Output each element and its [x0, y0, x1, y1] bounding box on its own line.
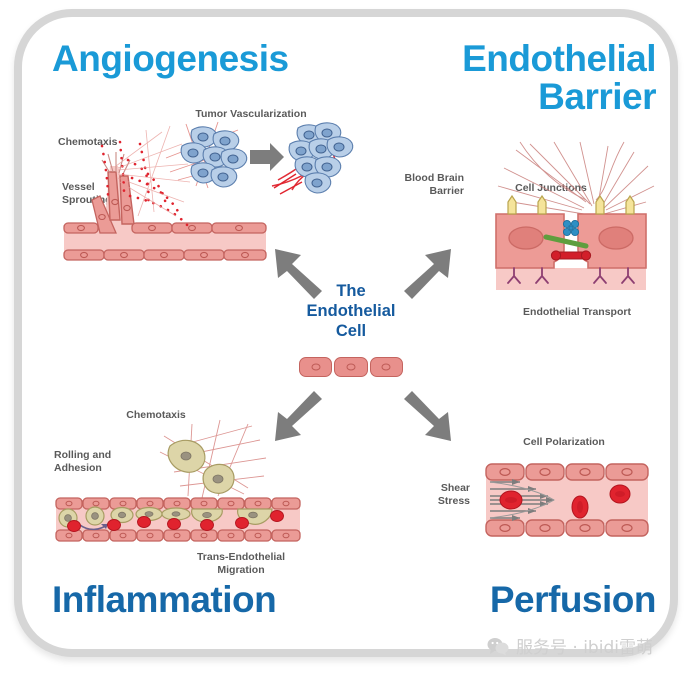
arrow-to-perfusion: [398, 388, 454, 444]
watermark-text: 服务号 · ibidi雷萌: [516, 633, 653, 658]
shear-stress-label: Shear Stress: [424, 482, 470, 508]
endothelial-barrier-illustration: [468, 140, 668, 300]
endothelial-cell-1: [299, 357, 332, 377]
endothelial-transport-label: Endothelial Transport: [492, 306, 662, 319]
quadrant-title-endothelial-barrier: Endothelial Barrier: [462, 40, 656, 115]
center-endothelial-cell-strip: [299, 357, 403, 377]
endothelial-cell-2: [334, 357, 367, 377]
arrow-to-endothelial-barrier: [398, 246, 454, 302]
endothelial-cell-3: [370, 357, 403, 377]
inflammation-illustration: [52, 418, 302, 548]
trans-endothelial-migration-label: Trans-Endothelial Migration: [178, 551, 304, 577]
quadrant-title-inflammation: Inflammation: [52, 581, 276, 619]
wechat-icon: [487, 637, 509, 655]
cell-polarization-label: Cell Polarization: [507, 436, 621, 449]
quadrant-title-perfusion: Perfusion: [490, 581, 656, 619]
perfusion-illustration: [484, 452, 650, 548]
quadrant-title-angiogenesis: Angiogenesis: [52, 40, 289, 78]
wechat-watermark: 服务号 · ibidi雷萌: [487, 633, 653, 658]
angiogenesis-illustration: [58, 120, 330, 265]
blood-brain-barrier-label: Blood Brain Barrier: [382, 172, 464, 198]
